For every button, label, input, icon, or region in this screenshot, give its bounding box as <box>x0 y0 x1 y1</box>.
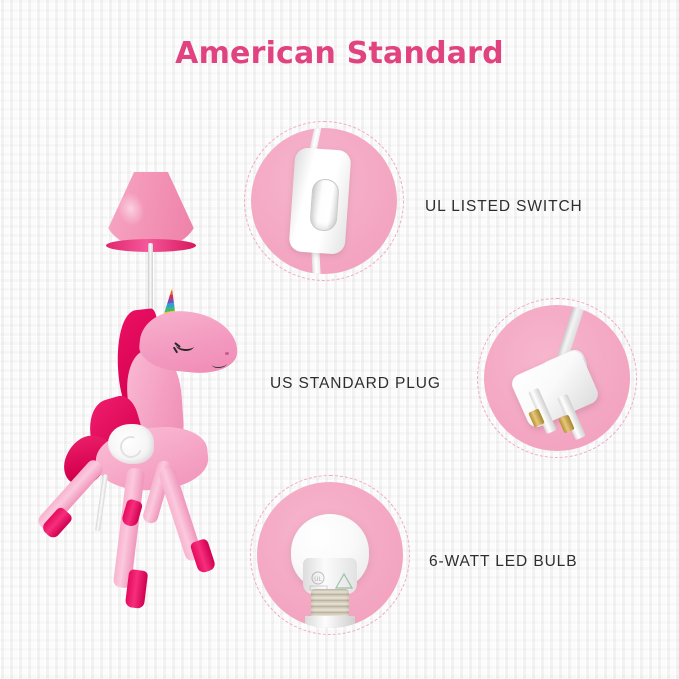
unicorn-hoof <box>125 569 148 609</box>
pink-disc-switch <box>251 128 397 274</box>
feature-circle-plug <box>477 298 637 458</box>
bulb-base-platform <box>305 616 355 628</box>
feature-label-switch: UL LISTED SWITCH <box>425 198 583 216</box>
svg-text:UL: UL <box>314 576 322 583</box>
unicorn-nostril <box>225 352 229 355</box>
feature-circle-switch <box>244 121 404 281</box>
feature-label-plug: US STANDARD PLUG <box>270 375 441 393</box>
feature-circle-bulb: UL <box>250 475 410 635</box>
page-title: American Standard <box>0 36 679 71</box>
lamp-pull-cord <box>95 474 108 532</box>
product-infographic: American Standard <box>0 0 679 679</box>
plug-housing <box>509 348 601 430</box>
unicorn-hoof <box>189 538 216 574</box>
feature-label-bulb: 6-WATT LED BULB <box>429 553 577 571</box>
switch-rocker-button <box>309 178 340 232</box>
lamp-shade <box>104 172 198 248</box>
pink-disc-bulb: UL <box>257 482 403 628</box>
pink-disc-plug <box>484 305 630 451</box>
